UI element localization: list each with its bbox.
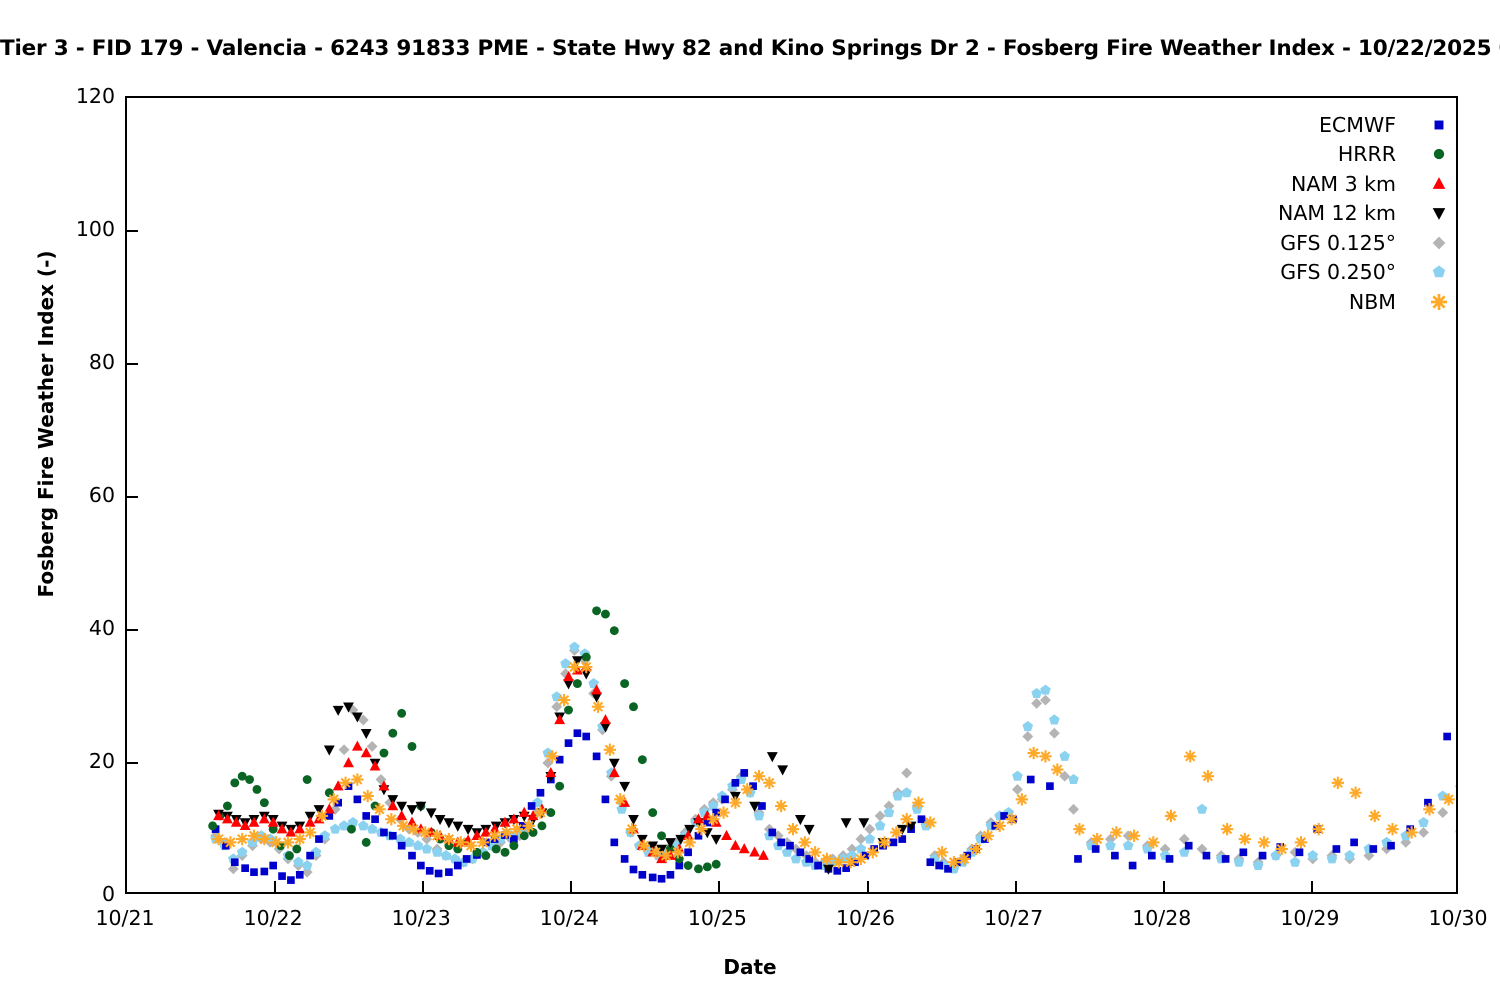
legend-item-label: NBM [1349, 290, 1426, 314]
x-axis-label: Date [0, 955, 1500, 979]
y-tick-mark [127, 629, 138, 631]
x-tick-mark [570, 881, 572, 892]
y-tick-mark [127, 230, 138, 232]
y-tick-label: 80 [0, 350, 115, 374]
x-tick-label: 10/23 [351, 906, 491, 930]
y-tick-label: 0 [0, 882, 115, 906]
chart-title: Tier 3 - FID 179 - Valencia - 6243 91833… [0, 36, 1500, 61]
triangle-up-marker-icon [1426, 171, 1452, 197]
x-tick-mark [1163, 881, 1165, 892]
x-tick-label: 10/28 [1092, 906, 1232, 930]
x-tick-mark [274, 881, 276, 892]
x-tick-label: 10/24 [499, 906, 639, 930]
x-tick-mark [867, 881, 869, 892]
legend-item-label: NAM 12 km [1278, 201, 1426, 225]
y-tick-mark [127, 363, 138, 365]
x-tick-label: 10/22 [203, 906, 343, 930]
y-tick-label: 40 [0, 616, 115, 640]
y-axis-label: Fosberg Fire Weather Index (-) [34, 114, 58, 734]
series-gfs-0-250 [210, 642, 1456, 880]
x-tick-label: 10/29 [1240, 906, 1380, 930]
x-tick-mark [422, 881, 424, 892]
x-tick-mark [718, 881, 720, 892]
y-tick-label: 120 [0, 84, 115, 108]
x-tick-label: 10/26 [796, 906, 936, 930]
chart-figure: Tier 3 - FID 179 - Valencia - 6243 91833… [0, 0, 1500, 1000]
legend-item-ecmwf[interactable]: ECMWF [1278, 110, 1452, 140]
legend-item-label: NAM 3 km [1291, 172, 1426, 196]
legend-item-gfs-0-125[interactable]: GFS 0.125° [1278, 228, 1452, 258]
x-tick-label: 10/27 [944, 906, 1084, 930]
y-tick-mark [127, 762, 138, 764]
legend-item-label: GFS 0.125° [1280, 231, 1426, 255]
diamond-marker-icon [1426, 230, 1452, 256]
legend-item-nam-12-km[interactable]: NAM 12 km [1278, 199, 1452, 229]
x-tick-label: 10/30 [1388, 906, 1500, 930]
x-tick-mark [1015, 881, 1017, 892]
chart-legend: ECMWFHRRRNAM 3 kmNAM 12 kmGFS 0.125°GFS … [1278, 110, 1452, 317]
asterisk-marker-icon [1426, 289, 1452, 315]
x-tick-label: 10/21 [55, 906, 195, 930]
legend-item-gfs-0-250[interactable]: GFS 0.250° [1278, 258, 1452, 288]
circle-marker-icon [1426, 141, 1452, 167]
legend-item-nam-3-km[interactable]: NAM 3 km [1278, 169, 1452, 199]
legend-item-nbm[interactable]: NBM [1278, 287, 1452, 317]
plot-area [125, 96, 1458, 894]
square-marker-icon [1426, 112, 1452, 138]
scatter-markers-layer [127, 98, 1456, 892]
legend-item-label: GFS 0.250° [1280, 260, 1426, 284]
x-tick-label: 10/25 [647, 906, 787, 930]
y-tick-label: 100 [0, 217, 115, 241]
legend-item-label: ECMWF [1319, 113, 1426, 137]
y-tick-label: 60 [0, 483, 115, 507]
y-tick-label: 20 [0, 749, 115, 773]
pentagon-marker-icon [1426, 259, 1452, 285]
triangle-down-marker-icon [1426, 200, 1452, 226]
x-tick-mark [1311, 881, 1313, 892]
legend-item-hrrr[interactable]: HRRR [1278, 140, 1452, 170]
y-tick-mark [127, 496, 138, 498]
legend-item-label: HRRR [1338, 142, 1426, 166]
